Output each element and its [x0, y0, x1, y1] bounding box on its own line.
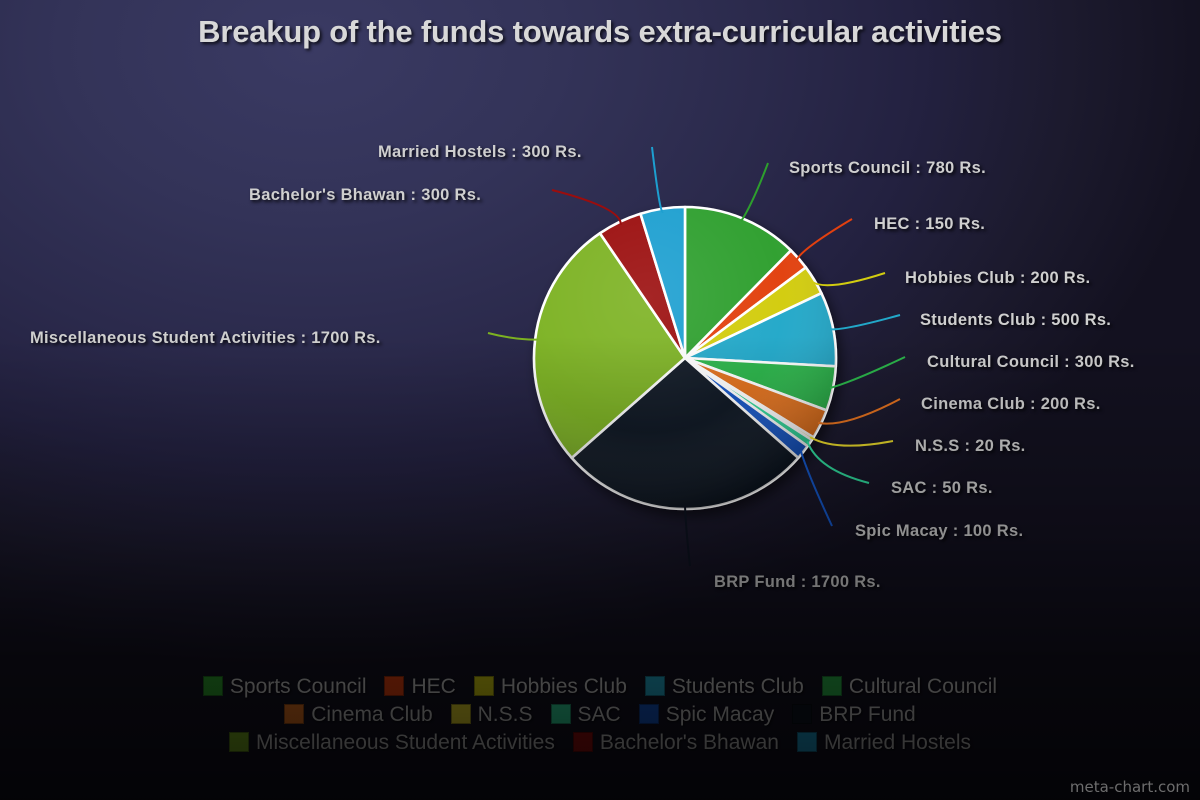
legend-item-label: Married Hostels — [824, 732, 971, 753]
legend-item[interactable]: SAC — [551, 704, 621, 725]
legend-item-label: Spic Macay — [666, 704, 775, 725]
slice-callout-label: Cultural Council : 300 Rs. — [927, 353, 1135, 372]
leader-line — [801, 450, 832, 526]
slice-callout-label: Hobbies Club : 200 Rs. — [905, 269, 1090, 288]
legend-color-swatch — [229, 732, 249, 752]
legend-item-label: N.S.S — [478, 704, 533, 725]
slice-callout-label: Students Club : 500 Rs. — [920, 311, 1111, 330]
legend-color-swatch — [639, 704, 659, 724]
leader-line — [830, 357, 905, 388]
legend-color-swatch — [284, 704, 304, 724]
legend-color-swatch — [474, 676, 494, 696]
legend-item[interactable]: Miscellaneous Student Activities — [229, 732, 555, 753]
chart-canvas: Breakup of the funds towards extra-curri… — [0, 0, 1200, 800]
leader-line — [812, 273, 885, 285]
leader-line — [830, 315, 900, 329]
leader-line — [741, 163, 768, 221]
legend-color-swatch — [551, 704, 571, 724]
legend-color-swatch — [384, 676, 404, 696]
legend-color-swatch — [792, 704, 812, 724]
legend-item[interactable]: Hobbies Club — [474, 676, 627, 697]
leader-line — [552, 190, 621, 225]
leader-line — [810, 437, 893, 446]
slice-callout-label: Bachelor's Bhawan : 300 Rs. — [249, 186, 481, 205]
legend-color-swatch — [451, 704, 471, 724]
leader-line — [685, 506, 690, 566]
legend-color-swatch — [822, 676, 842, 696]
legend-color-swatch — [203, 676, 223, 696]
slice-callout-label: Sports Council : 780 Rs. — [789, 159, 986, 178]
legend-item[interactable]: BRP Fund — [792, 704, 916, 725]
legend-item-label: Bachelor's Bhawan — [600, 732, 779, 753]
legend-color-swatch — [645, 676, 665, 696]
slice-callout-label: HEC : 150 Rs. — [874, 215, 985, 234]
legend-item-label: Cinema Club — [311, 704, 432, 725]
legend-item-label: Hobbies Club — [501, 676, 627, 697]
legend-item-label: Miscellaneous Student Activities — [256, 732, 555, 753]
legend-row: Sports CouncilHECHobbies ClubStudents Cl… — [0, 672, 1200, 700]
legend-color-swatch — [797, 732, 817, 752]
slice-callout-label: SAC : 50 Rs. — [891, 479, 993, 498]
legend-item[interactable]: HEC — [384, 676, 455, 697]
legend-item[interactable]: Spic Macay — [639, 704, 775, 725]
legend-item[interactable]: Married Hostels — [797, 732, 971, 753]
pie-slices-group — [534, 207, 836, 509]
slice-callout-label: Married Hostels : 300 Rs. — [378, 143, 582, 162]
legend-item-label: HEC — [411, 676, 455, 697]
leader-line — [807, 441, 869, 483]
watermark: meta-chart.com — [1070, 778, 1190, 796]
legend-item-label: BRP Fund — [819, 704, 916, 725]
legend-item[interactable]: Students Club — [645, 676, 804, 697]
slice-callout-label: BRP Fund : 1700 Rs. — [714, 573, 881, 592]
legend-item[interactable]: Sports Council — [203, 676, 367, 697]
slice-callout-label: N.S.S : 20 Rs. — [915, 437, 1026, 456]
leader-line — [797, 219, 853, 261]
slice-callout-label: Miscellaneous Student Activities : 1700 … — [30, 329, 381, 348]
legend-color-swatch — [573, 732, 593, 752]
legend-item-label: Cultural Council — [849, 676, 997, 697]
legend-item[interactable]: N.S.S — [451, 704, 533, 725]
leader-line — [488, 333, 538, 340]
legend-row: Miscellaneous Student ActivitiesBachelor… — [0, 728, 1200, 756]
legend-item[interactable]: Cultural Council — [822, 676, 997, 697]
slice-callout-label: Spic Macay : 100 Rs. — [855, 522, 1023, 541]
legend-item-label: Students Club — [672, 676, 804, 697]
slice-callout-label: Cinema Club : 200 Rs. — [921, 395, 1101, 414]
legend-row: Cinema ClubN.S.SSACSpic MacayBRP Fund — [0, 700, 1200, 728]
legend-item[interactable]: Bachelor's Bhawan — [573, 732, 779, 753]
chart-legend: Sports CouncilHECHobbies ClubStudents Cl… — [0, 672, 1200, 756]
legend-item-label: SAC — [578, 704, 621, 725]
legend-item[interactable]: Cinema Club — [284, 704, 432, 725]
legend-item-label: Sports Council — [230, 676, 367, 697]
leader-line — [652, 147, 663, 212]
